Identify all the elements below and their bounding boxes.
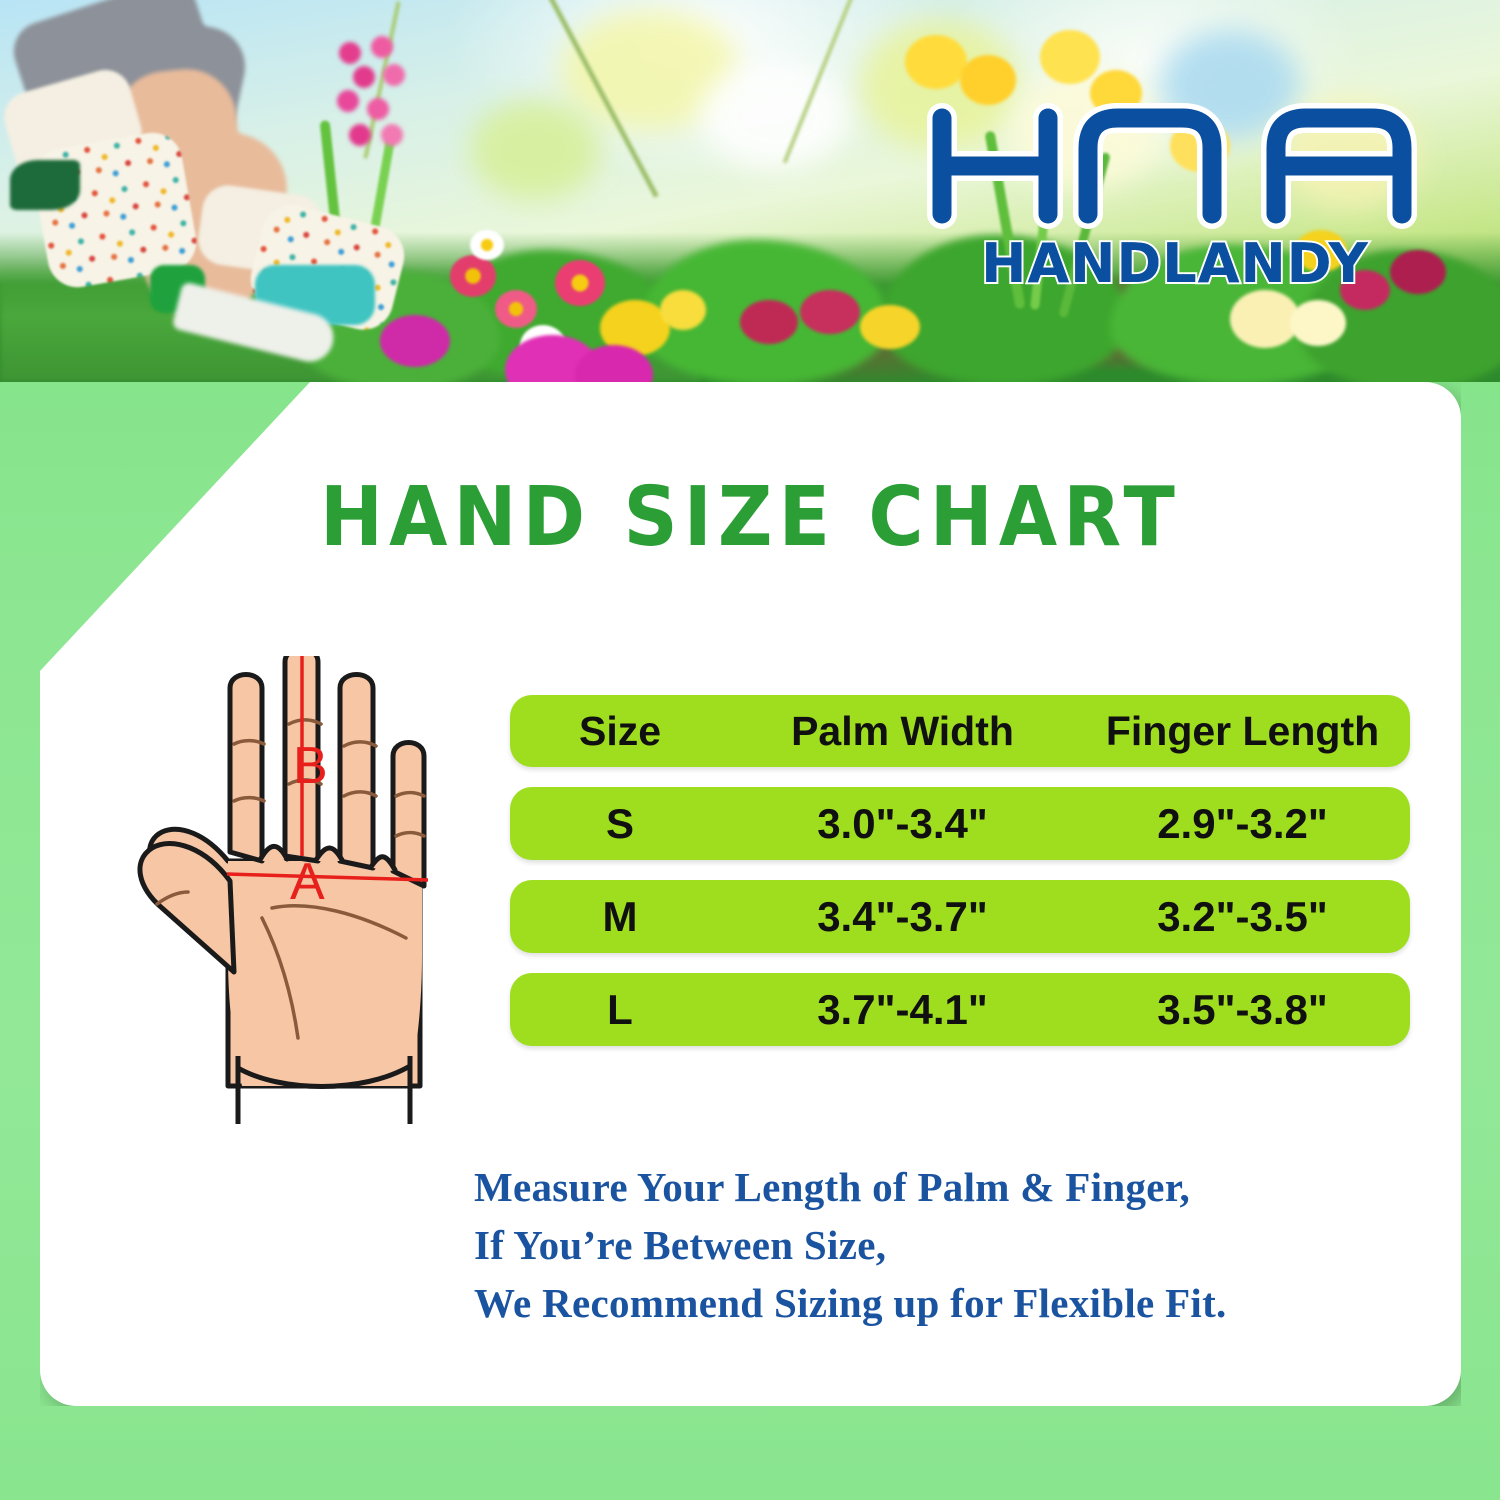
sizing-note-line-3: We Recommend Sizing up for Flexible Fit. bbox=[474, 1274, 1227, 1332]
column-header-palm-width: Palm Width bbox=[730, 708, 1075, 755]
daisy-flower bbox=[470, 230, 504, 260]
bokeh-blob bbox=[700, 60, 850, 170]
hyacinth-flower bbox=[330, 35, 422, 165]
cell-size: L bbox=[510, 986, 730, 1034]
cell-size: S bbox=[510, 800, 730, 848]
column-header-finger-length: Finger Length bbox=[1075, 708, 1410, 755]
table-row: L 3.7"-4.1" 3.5"-3.8" bbox=[510, 973, 1410, 1046]
hnd-monogram-icon bbox=[920, 96, 1430, 236]
primula-flower bbox=[450, 255, 496, 297]
palm-width-label: A bbox=[290, 856, 325, 908]
daffodil bbox=[1040, 30, 1100, 84]
brand-name: HANDLANDY bbox=[920, 232, 1430, 295]
daffodil bbox=[905, 35, 967, 89]
magenta-primrose bbox=[380, 315, 450, 367]
sizing-note: Measure Your Length of Palm & Finger, If… bbox=[474, 1158, 1227, 1333]
cream-pansy bbox=[1290, 300, 1346, 346]
cell-palm-width: 3.7"-4.1" bbox=[730, 986, 1075, 1034]
crimson-flower bbox=[800, 290, 860, 334]
hand-measurement-diagram: B A bbox=[110, 656, 490, 1126]
cell-finger-length: 3.2"-3.5" bbox=[1075, 893, 1410, 941]
glove-teal-patch bbox=[10, 160, 80, 210]
sizing-note-line-2: If You’re Between Size, bbox=[474, 1216, 1227, 1274]
table-row: S 3.0"-3.4" 2.9"-3.2" bbox=[510, 787, 1410, 860]
sizing-note-line-1: Measure Your Length of Palm & Finger, bbox=[474, 1158, 1227, 1216]
table-header-row: Size Palm Width Finger Length bbox=[510, 695, 1410, 767]
crimson-flower bbox=[740, 300, 798, 344]
page-title: HAND SIZE CHART bbox=[26, 470, 1475, 565]
primula-flower bbox=[555, 260, 605, 306]
bokeh-blob bbox=[470, 100, 600, 200]
size-chart-card: HAND SIZE CHART bbox=[40, 382, 1461, 1406]
gardening-banner-photo: HANDLANDY HANDLANDY bbox=[0, 0, 1500, 382]
cell-finger-length: 2.9"-3.2" bbox=[1075, 800, 1410, 848]
cell-palm-width: 3.0"-3.4" bbox=[730, 800, 1075, 848]
primula-flower bbox=[495, 290, 537, 328]
finger-length-label: B bbox=[293, 740, 328, 792]
size-table: Size Palm Width Finger Length S 3.0"-3.4… bbox=[510, 695, 1410, 1066]
yellow-primrose bbox=[860, 305, 920, 349]
cell-finger-length: 3.5"-3.8" bbox=[1075, 986, 1410, 1034]
hand-size-chart-page: HANDLANDY HANDLANDY HAND SIZE CHART bbox=[0, 0, 1500, 1500]
table-row: M 3.4"-3.7" 3.2"-3.5" bbox=[510, 880, 1410, 953]
cell-size: M bbox=[510, 893, 730, 941]
cell-palm-width: 3.4"-3.7" bbox=[730, 893, 1075, 941]
handlandy-logo: HANDLANDY HANDLANDY bbox=[920, 96, 1430, 292]
column-header-size: Size bbox=[510, 708, 730, 755]
yellow-primrose bbox=[660, 290, 706, 330]
